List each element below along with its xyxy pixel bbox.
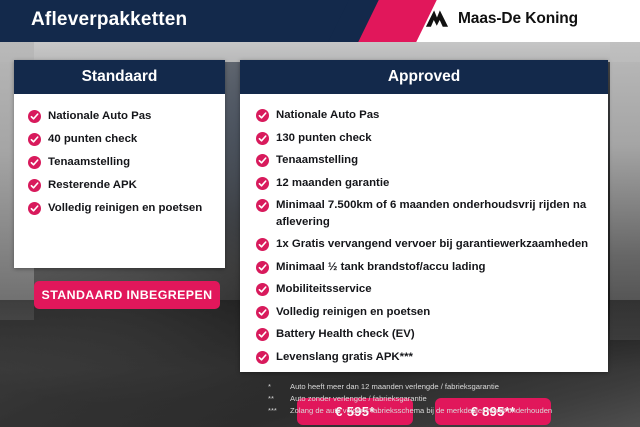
maas-de-koning-m-logo-icon — [424, 9, 449, 29]
feature-item: Nationale Auto Pas — [14, 104, 225, 127]
feature-label: 12 maanden garantie — [276, 175, 389, 191]
check-circle-icon — [28, 156, 41, 169]
card-body-approved: Nationale Auto Pas130 punten checkTenaam… — [240, 94, 608, 368]
feature-item: Resterende APK — [14, 174, 225, 197]
feature-label: Levenslang gratis APK*** — [276, 349, 413, 365]
brand-name: Maas-De Koning — [458, 10, 578, 28]
footnote-marker: * — [268, 381, 290, 392]
feature-label: Tenaamstelling — [276, 152, 358, 168]
footnote-text: Zolang de auto volgens fabrieksschema bi… — [290, 405, 552, 416]
check-circle-icon — [256, 109, 269, 122]
page-header: Afleverpakketten Maas-De Koning — [0, 0, 640, 42]
page-title: Afleverpakketten — [31, 9, 187, 31]
feature-item: Minimaal 7.500km of 6 maanden onderhouds… — [240, 194, 608, 233]
feature-item: Battery Health check (EV) — [240, 323, 608, 346]
check-circle-icon — [256, 261, 269, 274]
feature-label: Mobiliteitsservice — [276, 281, 372, 297]
brand-logo: Maas-De Koning — [424, 9, 578, 29]
feature-label: Nationale Auto Pas — [48, 108, 151, 124]
check-circle-icon — [28, 179, 41, 192]
feature-item: Volledig reinigen en poetsen — [14, 197, 225, 220]
check-circle-icon — [256, 238, 269, 251]
feature-label: Resterende APK — [48, 177, 137, 193]
feature-label: Nationale Auto Pas — [276, 107, 379, 123]
footnote-marker: ** — [268, 393, 290, 404]
feature-item: 130 punten check — [240, 127, 608, 150]
footnote-text: Auto heeft meer dan 12 maanden verlengde… — [290, 381, 499, 392]
check-circle-icon — [256, 306, 269, 319]
check-circle-icon — [28, 110, 41, 123]
feature-label: Minimaal ½ tank brandstof/accu lading — [276, 259, 486, 275]
package-card-approved: Approved Nationale Auto Pas130 punten ch… — [240, 60, 608, 372]
feature-label: 40 punten check — [48, 131, 137, 147]
feature-item: Levenslang gratis APK*** — [240, 346, 608, 369]
package-card-standaard: Standaard Nationale Auto Pas40 punten ch… — [14, 60, 225, 268]
feature-label: Battery Health check (EV) — [276, 326, 415, 342]
feature-item: 40 punten check — [14, 127, 225, 150]
feature-label: Volledig reinigen en poetsen — [276, 304, 430, 320]
footnote-row: **Auto zonder verlengde / fabrieksgarant… — [268, 393, 618, 404]
feature-label: 1x Gratis vervangend vervoer bij garanti… — [276, 236, 588, 252]
slide-canvas: Afleverpakketten Maas-De Koning Standaar… — [0, 0, 640, 427]
card-title-standaard: Standaard — [14, 60, 225, 94]
feature-item: 12 maanden garantie — [240, 172, 608, 195]
feature-list-approved: Nationale Auto Pas130 punten checkTenaam… — [240, 104, 608, 368]
footnote-row: ***Zolang de auto volgens fabrieksschema… — [268, 405, 618, 416]
background-top-strip — [0, 40, 640, 62]
check-circle-icon — [256, 154, 269, 167]
feature-label: Tenaamstelling — [48, 154, 130, 170]
check-circle-icon — [256, 132, 269, 145]
background-right-panel — [610, 40, 640, 340]
feature-item: Volledig reinigen en poetsen — [240, 301, 608, 324]
check-circle-icon — [256, 177, 269, 190]
feature-item: Nationale Auto Pas — [240, 104, 608, 127]
footnote-row: *Auto heeft meer dan 12 maanden verlengd… — [268, 381, 618, 392]
check-circle-icon — [256, 283, 269, 296]
check-circle-icon — [28, 202, 41, 215]
card-title-approved: Approved — [240, 60, 608, 94]
feature-label: 130 punten check — [276, 130, 372, 146]
standaard-included-button[interactable]: STANDAARD INBEGREPEN — [34, 281, 220, 309]
feature-label: Minimaal 7.500km of 6 maanden onderhouds… — [276, 197, 600, 229]
footnote-text: Auto zonder verlengde / fabrieksgarantie — [290, 393, 427, 404]
card-body-standaard: Nationale Auto Pas40 punten checkTenaams… — [14, 94, 225, 220]
feature-item: Tenaamstelling — [14, 150, 225, 173]
check-circle-icon — [28, 133, 41, 146]
check-circle-icon — [256, 199, 269, 212]
feature-list-standaard: Nationale Auto Pas40 punten checkTenaams… — [14, 104, 225, 220]
check-circle-icon — [256, 328, 269, 341]
feature-item: 1x Gratis vervangend vervoer bij garanti… — [240, 233, 608, 256]
feature-label: Volledig reinigen en poetsen — [48, 200, 202, 216]
footnotes: *Auto heeft meer dan 12 maanden verlengd… — [268, 381, 618, 417]
feature-item: Tenaamstelling — [240, 149, 608, 172]
footnote-marker: *** — [268, 405, 290, 416]
feature-item: Minimaal ½ tank brandstof/accu lading — [240, 256, 608, 279]
feature-item: Mobiliteitsservice — [240, 278, 608, 301]
check-circle-icon — [256, 351, 269, 364]
